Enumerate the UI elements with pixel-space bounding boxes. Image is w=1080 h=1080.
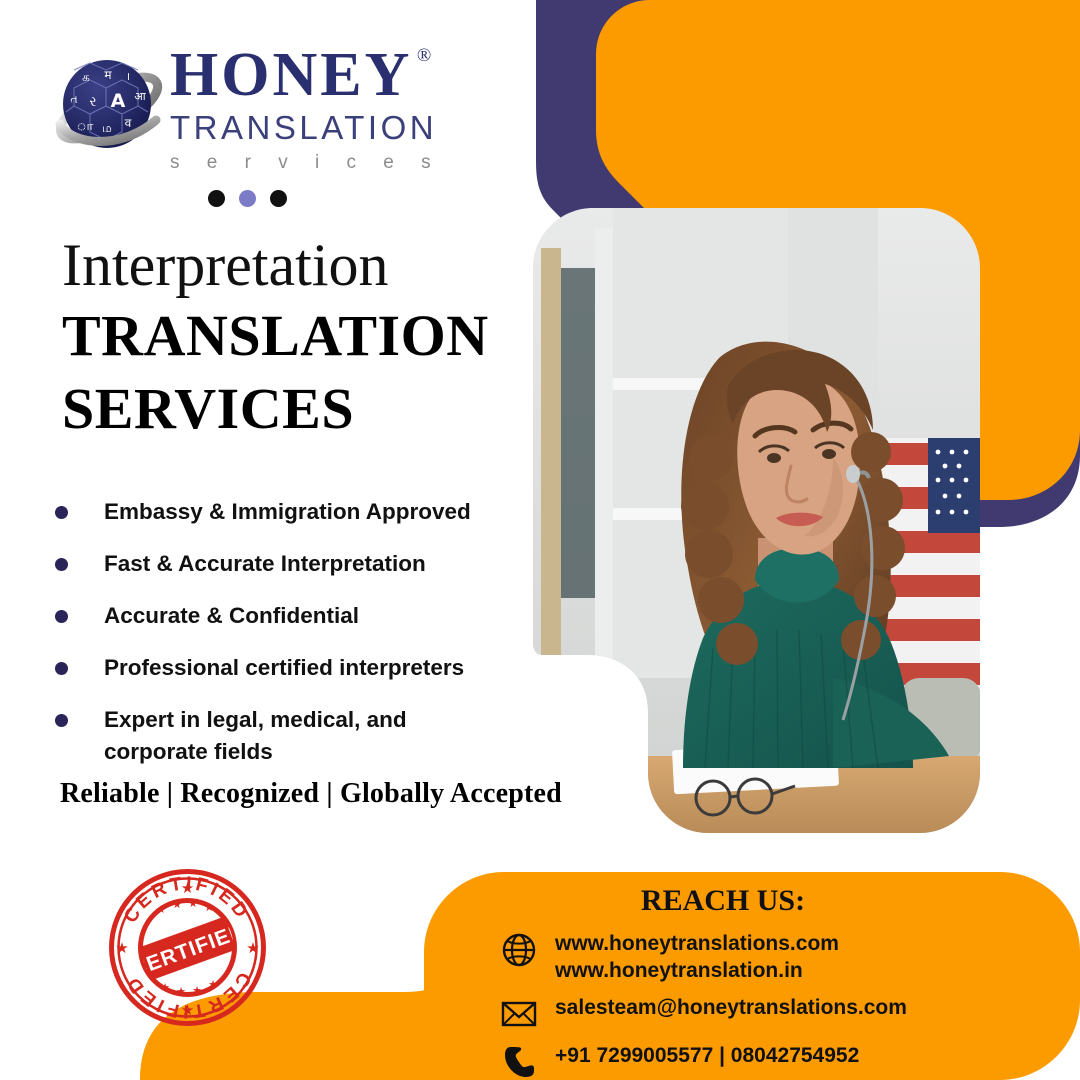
envelope-icon [499, 994, 539, 1034]
dot-1 [208, 190, 225, 207]
logo-translation-text: TRANSLATION [170, 108, 470, 148]
bullet-dot-icon [55, 610, 68, 623]
bullet-dot-icon [55, 558, 68, 571]
contact-heading: REACH US: [424, 884, 1022, 918]
registered-mark-icon: ® [417, 46, 434, 65]
svg-text:म: म [104, 68, 112, 82]
svg-text:★: ★ [176, 985, 186, 998]
page-title: Interpretation TRANSLATION SERVICES [62, 234, 532, 442]
contact-phone[interactable]: +91 7299005577 | 08042754952 [555, 1042, 859, 1069]
tagline: Reliable | Recognized | Globally Accepte… [60, 778, 562, 810]
phone-icon [499, 1042, 539, 1080]
contact-row-website[interactable]: www.honeytranslations.com www.honeytrans… [499, 930, 839, 985]
logo-services-text: s e r v i c e s [170, 152, 470, 174]
svg-text:ર: ર [89, 94, 96, 110]
svg-text:★: ★ [160, 981, 170, 994]
list-item-label: Accurate & Confidential [104, 600, 359, 632]
svg-text:A: A [111, 90, 126, 112]
list-item: Embassy & Immigration Approved [55, 496, 535, 528]
list-item: Fast & Accurate Interpretation [55, 548, 535, 580]
certified-stamp-icon: CERTIFIED CERTIFIED ★ ★ ★ ★ ★★ ★★ ★★ ★★ [105, 865, 270, 1030]
hero-photo [533, 208, 980, 833]
list-item-label: Fast & Accurate Interpretation [104, 548, 426, 580]
globe-icon [499, 930, 539, 970]
website-line-1: www.honeytranslations.com [555, 932, 839, 955]
dot-3 [270, 190, 287, 207]
logo-honey-text: HONEY [170, 41, 412, 109]
svg-text:★: ★ [115, 939, 128, 957]
feature-list: Embassy & Immigration Approved Fast & Ac… [55, 496, 535, 788]
headline-bold-2: SERVICES [62, 376, 532, 443]
svg-text:आ: आ [134, 90, 146, 103]
svg-text:व: व [125, 116, 132, 130]
bullet-dot-icon [55, 662, 68, 675]
svg-text:ா: ா [77, 119, 94, 134]
headline-script: Interpretation [62, 234, 532, 297]
svg-text:★: ★ [181, 1001, 194, 1019]
svg-text:★: ★ [246, 939, 259, 957]
globe-languages-icon: க म । ત ર A आ ா ம व [52, 50, 170, 162]
website-line-2: www.honeytranslation.in [555, 959, 803, 982]
list-item: Expert in legal, medical, and corporate … [55, 704, 535, 768]
poster-canvas: க म । ત ર A आ ா ம व HONEY ® TR [0, 0, 1080, 1080]
logo-wordmark: HONEY ® TRANSLATION s e r v i c e s [170, 44, 470, 174]
svg-text:★: ★ [208, 978, 218, 991]
brand-logo[interactable]: க म । ત ર A आ ா ம व HONEY ® TR [52, 44, 472, 184]
headline-bold-1: TRANSLATION [62, 303, 532, 370]
list-item: Professional certified interpreters [55, 652, 535, 684]
svg-text:★: ★ [204, 901, 214, 914]
list-item: Accurate & Confidential [55, 600, 535, 632]
contact-email[interactable]: salesteam@honeytranslations.com [555, 994, 907, 1021]
contact-row-email[interactable]: salesteam@honeytranslations.com [499, 994, 907, 1034]
svg-text:★: ★ [181, 879, 194, 897]
svg-text:★: ★ [156, 903, 166, 916]
contact-website[interactable]: www.honeytranslations.com www.honeytrans… [555, 930, 839, 985]
list-item-label: Embassy & Immigration Approved [104, 496, 471, 528]
svg-text:ம: ம [102, 121, 112, 135]
list-item-label: Professional certified interpreters [104, 652, 464, 684]
list-item-label: Expert in legal, medical, and corporate … [104, 704, 454, 768]
svg-text:ત: ત [70, 93, 77, 106]
svg-text:★: ★ [172, 898, 182, 911]
contact-panel: REACH US: www.honeytranslations.com www.… [424, 872, 1080, 1080]
svg-text:★: ★ [192, 984, 202, 997]
decorative-dots [208, 190, 287, 207]
svg-text:க: க [82, 70, 90, 84]
svg-text:।: । [126, 70, 130, 83]
bullet-dot-icon [55, 714, 68, 727]
contact-row-phone[interactable]: +91 7299005577 | 08042754952 [499, 1042, 859, 1080]
dot-2 [239, 190, 256, 207]
svg-text:★: ★ [188, 897, 198, 910]
bullet-dot-icon [55, 506, 68, 519]
